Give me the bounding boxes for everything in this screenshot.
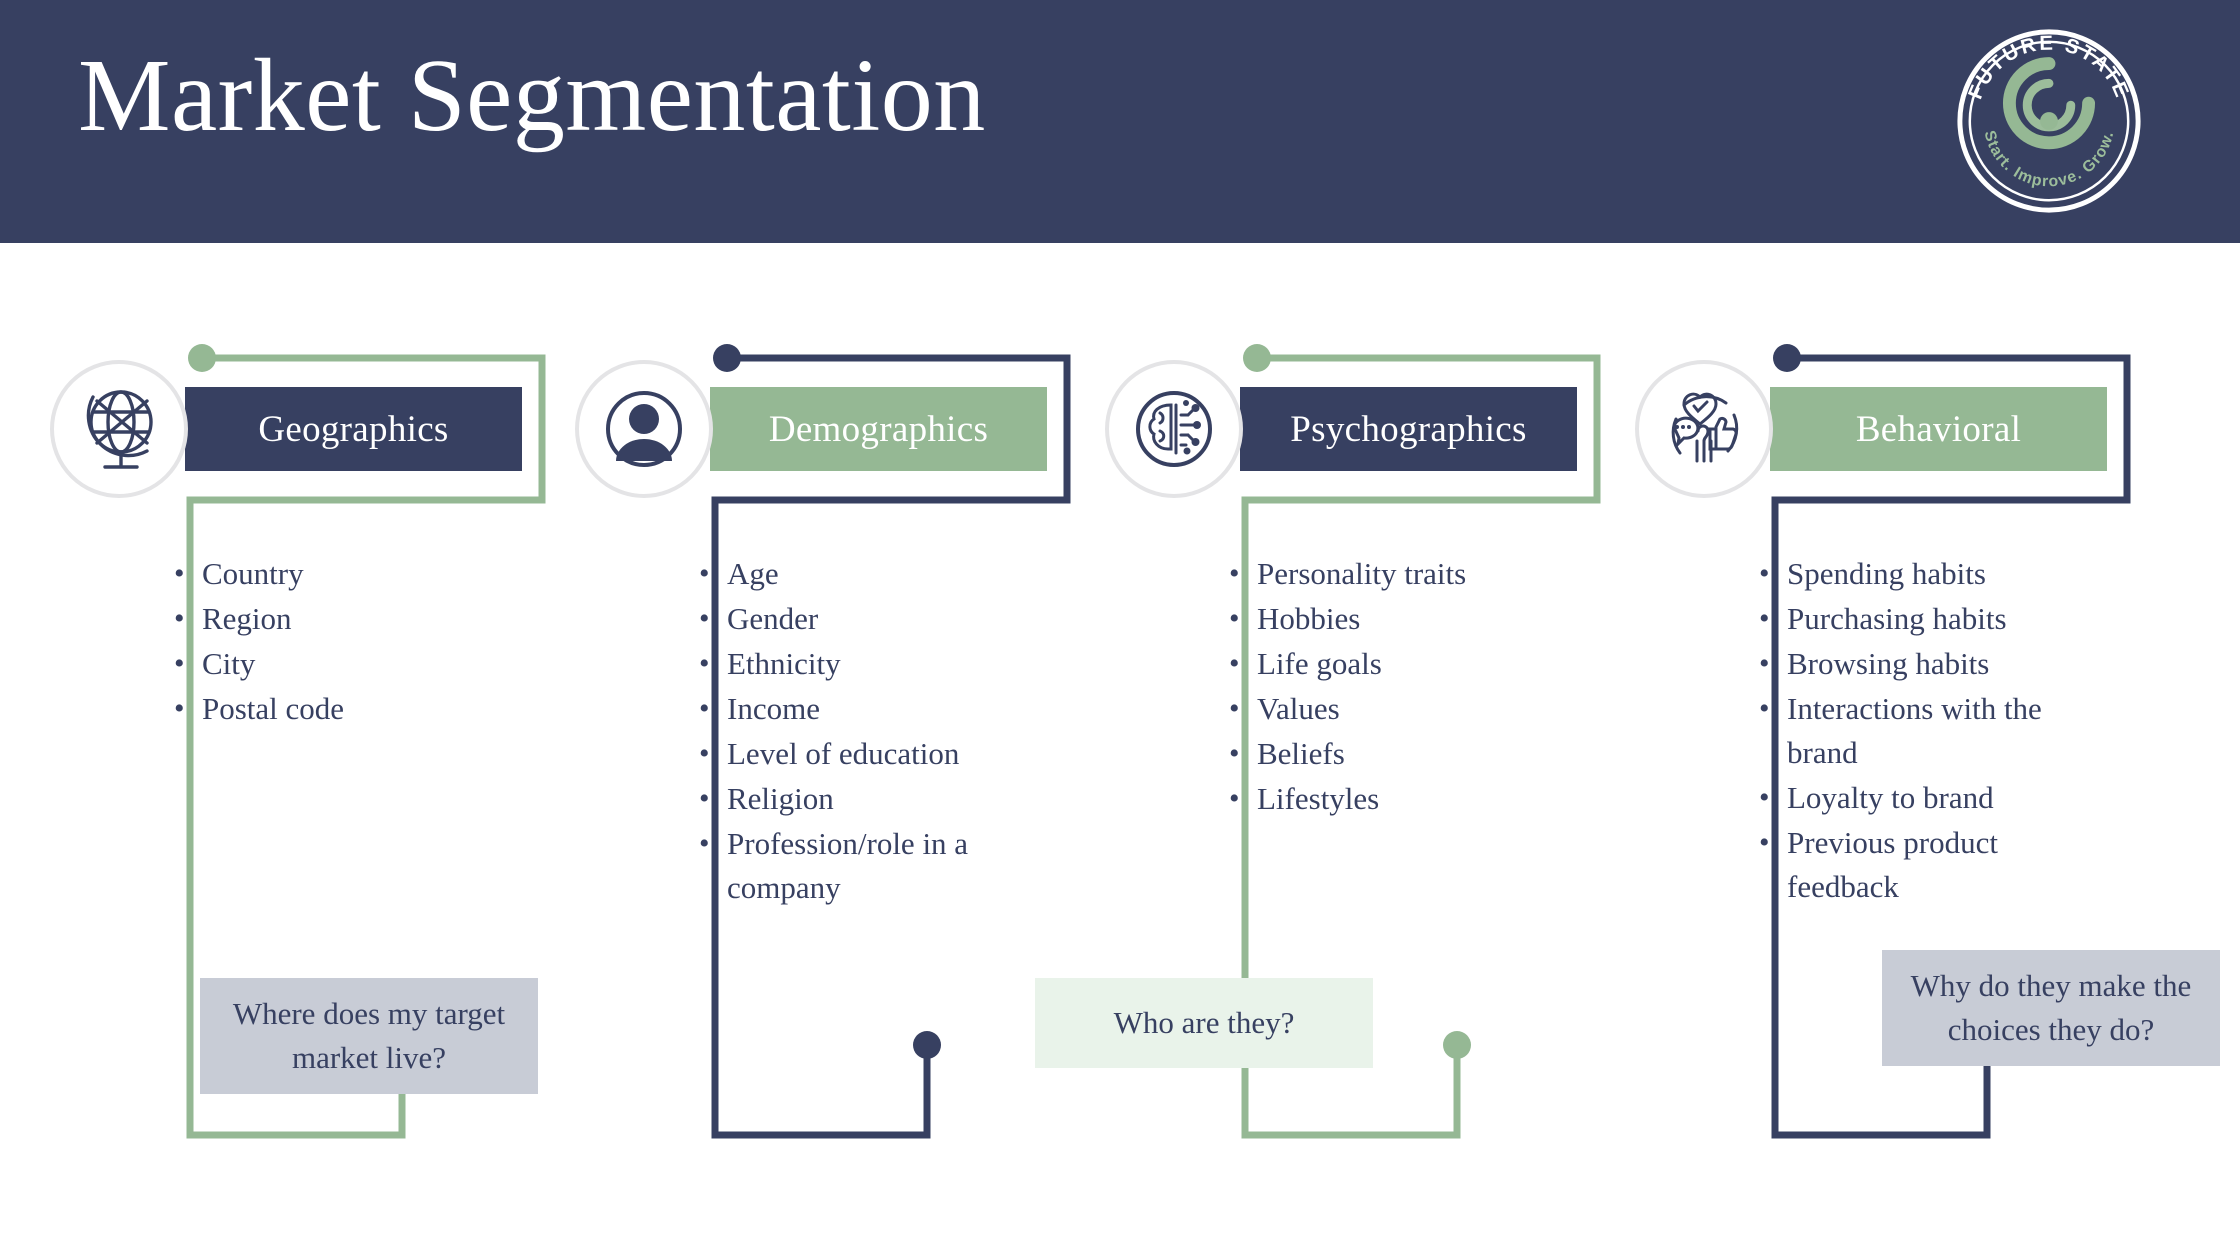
infographic-canvas: Market Segmentation FUTURE STATE Start. … [0, 0, 2240, 1260]
question-box-demographics: Who are they? [1035, 978, 1373, 1068]
list-item: Postal code [170, 687, 490, 731]
list-item: Lifestyles [1225, 777, 1545, 821]
list-item: Religion [695, 777, 1015, 821]
category-title: Behavioral [1856, 408, 2021, 451]
list-item: Previous product feedback [1755, 821, 2075, 909]
list-item: Profession/role in a company [695, 822, 1015, 910]
list-item: Interactions with the brand [1755, 687, 2075, 775]
list-item: Life goals [1225, 642, 1545, 686]
list-item: Personality traits [1225, 552, 1545, 596]
attribute-list-geographics: Country Region City Postal code [170, 552, 490, 732]
path-start-dot [713, 344, 741, 372]
brain-circuit-icon [1105, 360, 1243, 498]
path-end-dot [1443, 1031, 1471, 1059]
person-icon [575, 360, 713, 498]
future-state-logo: FUTURE STATE Start. Improve. Grow. [1950, 22, 2148, 220]
category-title: Demographics [769, 408, 988, 451]
list-item: Gender [695, 597, 1015, 641]
path-start-dot [188, 344, 216, 372]
list-item: Hobbies [1225, 597, 1545, 641]
list-item: Income [695, 687, 1015, 731]
category-header-demographics[interactable]: Demographics [710, 387, 1047, 471]
path-start-dot [1773, 344, 1801, 372]
segment-column-demographics: Demographics Age Gender Ethnicity Income… [575, 340, 1115, 1150]
question-text: Who are they? [1114, 1001, 1295, 1045]
category-title: Psychographics [1290, 408, 1526, 451]
question-box-geographics: Where does my target market live? [200, 978, 538, 1094]
globe-icon [50, 360, 188, 498]
category-header-psychographics[interactable]: Psychographics [1240, 387, 1577, 471]
question-text: Where does my target market live? [218, 992, 520, 1080]
category-title: Geographics [258, 408, 448, 451]
list-item: Region [170, 597, 490, 641]
path-end-dot [913, 1031, 941, 1059]
list-item: Loyalty to brand [1755, 776, 2075, 820]
list-item: Beliefs [1225, 732, 1545, 776]
list-item: Country [170, 552, 490, 596]
list-item: Ethnicity [695, 642, 1015, 686]
attribute-list-demographics: Age Gender Ethnicity Income Level of edu… [695, 552, 1015, 911]
question-box-psychographics: Why do they make the choices they do? [1882, 950, 2220, 1066]
path-start-dot [1243, 344, 1271, 372]
segment-column-geographics: Geographics Country Region City Postal c… [50, 340, 590, 1150]
category-header-geographics[interactable]: Geographics [185, 387, 522, 471]
list-item: Browsing habits [1755, 642, 2075, 686]
attribute-list-psychographics: Personality traits Hobbies Life goals Va… [1225, 552, 1545, 822]
list-item: City [170, 642, 490, 686]
list-item: Level of education [695, 732, 1015, 776]
list-item: Purchasing habits [1755, 597, 2075, 641]
category-header-behavioral[interactable]: Behavioral [1770, 387, 2107, 471]
list-item: Values [1225, 687, 1545, 731]
attribute-list-behavioral: Spending habits Purchasing habits Browsi… [1755, 552, 2075, 910]
engagement-icon [1635, 360, 1773, 498]
list-item: Spending habits [1755, 552, 2075, 596]
question-text: Why do they make the choices they do? [1900, 964, 2202, 1052]
list-item: Age [695, 552, 1015, 596]
page-title: Market Segmentation [78, 44, 986, 148]
